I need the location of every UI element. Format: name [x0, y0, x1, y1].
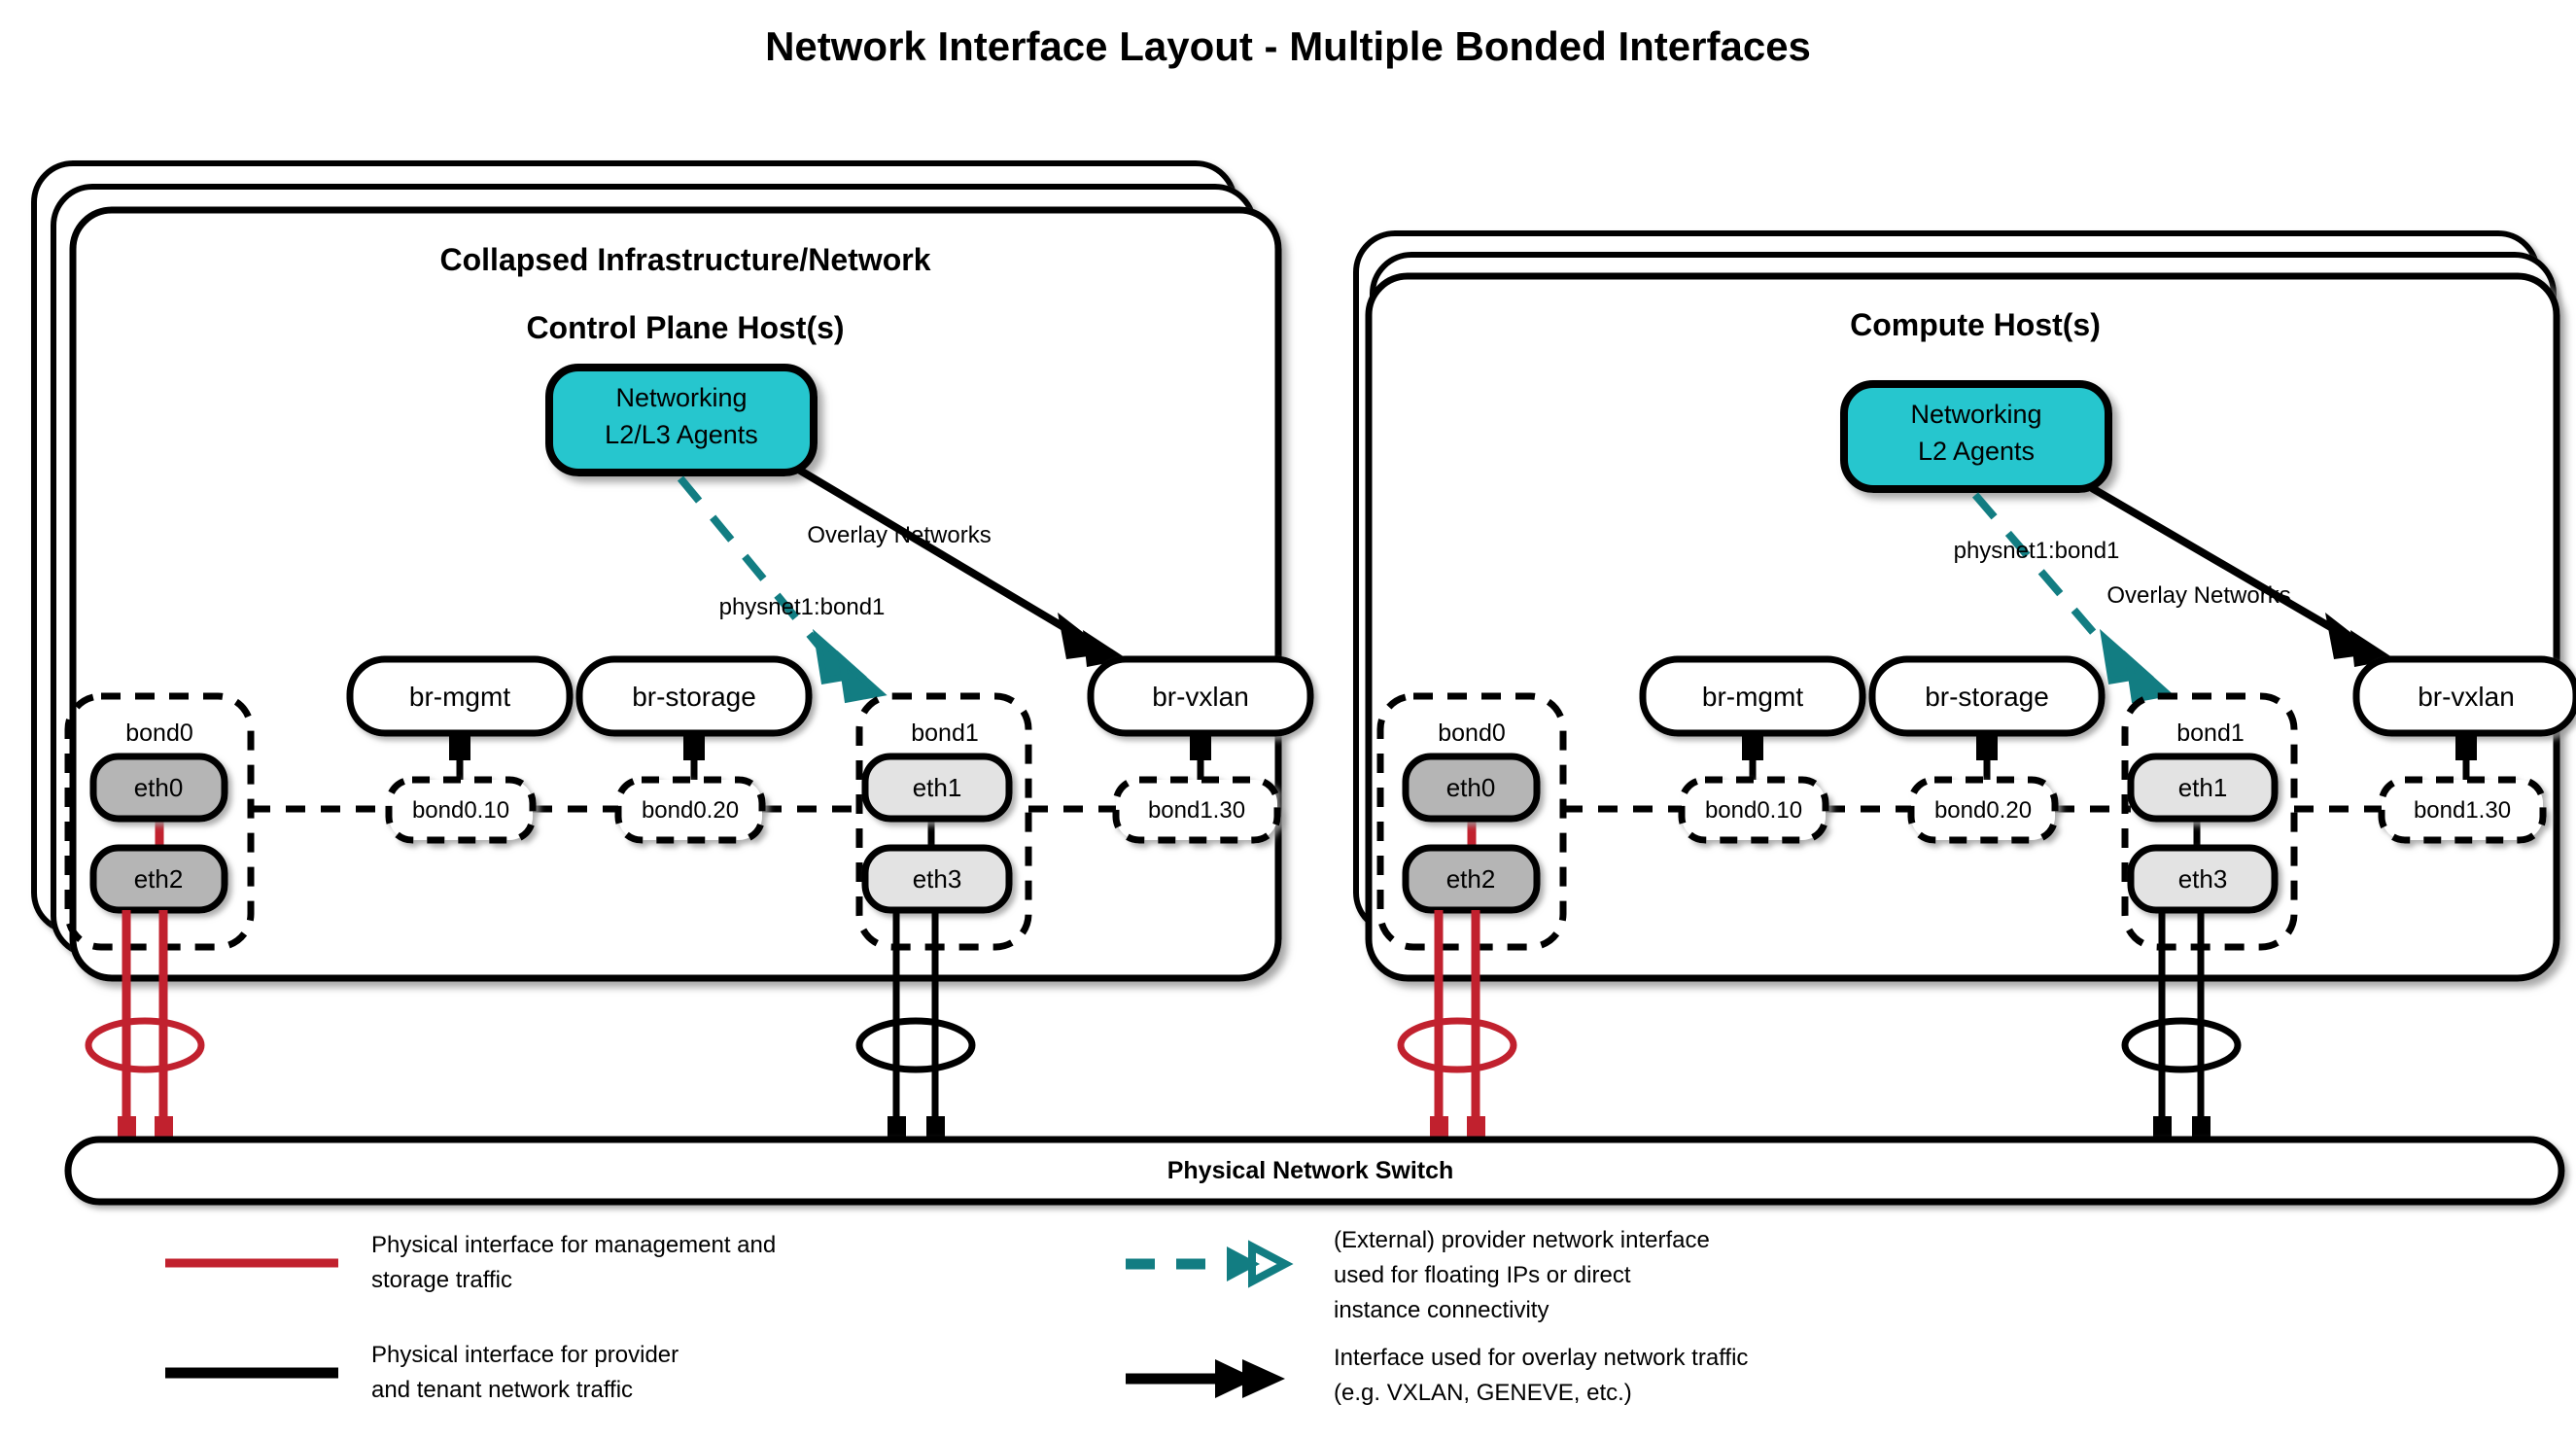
bond0-label: bond0 [125, 719, 193, 747]
eth1-label: eth1 [2178, 773, 2228, 802]
host-title-line1: Compute Host(s) [1850, 307, 2101, 342]
networking-agents-node[interactable]: Networking L2/L3 Agents [549, 368, 814, 473]
eth3-label: eth3 [913, 864, 962, 894]
legend-label-line2: used for floating IPs or direct [1334, 1262, 1631, 1288]
bond0-10-label: bond0.10 [1705, 797, 1802, 824]
br-vxlan-label: br-vxlan [1152, 682, 1249, 712]
cable-bundle-marker [859, 1021, 972, 1070]
bond0-label: bond0 [1438, 719, 1506, 747]
legend-swatch-black-arrow [1126, 1359, 1285, 1398]
vlan-node-bond0-20[interactable]: bond0.20 [618, 780, 762, 840]
legend-item-overlay-traffic: Interface used for overlay network traff… [1126, 1345, 1748, 1406]
networking-agents-node[interactable]: Networking L2 Agents [1844, 384, 2108, 489]
interface-node-eth0[interactable]: eth0 [93, 756, 225, 819]
eth0-label: eth0 [1446, 773, 1496, 802]
cable-bundle-marker [1401, 1021, 1514, 1070]
bond0-10-label: bond0.10 [412, 797, 509, 824]
legend-label-line1: (External) provider network interface [1334, 1227, 1710, 1253]
interface-node-eth2[interactable]: eth2 [93, 848, 225, 910]
bond1-30-label: bond1.30 [1148, 797, 1245, 824]
legend-label-line2: storage traffic [371, 1267, 512, 1293]
eth2-label: eth2 [134, 864, 184, 894]
vlan-node-bond0-20[interactable]: bond0.20 [1911, 780, 2055, 840]
cable-bundle-marker [2125, 1021, 2238, 1070]
br-storage-label: br-storage [632, 682, 756, 712]
interface-node-eth1[interactable]: eth1 [2131, 756, 2275, 819]
overlay-edge-label: Overlay Networks [2106, 582, 2290, 609]
legend-label-line2: (e.g. VXLAN, GENEVE, etc.) [1334, 1380, 1632, 1406]
bond1-label: bond1 [2176, 719, 2245, 747]
physical-network-switch[interactable]: Physical Network Switch [68, 1140, 2561, 1202]
vlan-node-bond0-10[interactable]: bond0.10 [1682, 780, 1826, 840]
legend-label-line3: instance connectivity [1334, 1297, 1549, 1323]
br-vxlan-label: br-vxlan [2418, 682, 2515, 712]
host-title-line1: Collapsed Infrastructure/Network [440, 242, 931, 277]
overlay-edge-label: Overlay Networks [807, 522, 991, 548]
legend-label-line1: Physical interface for management and [371, 1232, 776, 1258]
host-card-control-plane[interactable]: Collapsed Infrastructure/Network Control… [34, 163, 1310, 1147]
bond0-20-label: bond0.20 [642, 797, 739, 824]
page-title: Network Interface Layout - Multiple Bond… [765, 23, 1811, 69]
eth3-label: eth3 [2178, 864, 2228, 894]
legend-swatch-teal-dashed-arrow [1126, 1246, 1285, 1281]
legend-item-mgmt-storage: Physical interface for management and st… [165, 1232, 776, 1293]
eth2-label: eth2 [1446, 864, 1496, 894]
agent-label-line2: L2 Agents [1918, 437, 2035, 466]
agent-label-line2: L2/L3 Agents [605, 420, 758, 449]
vlan-node-bond1-30[interactable]: bond1.30 [1116, 780, 1277, 840]
physnet-edge-label: physnet1:bond1 [1954, 538, 2120, 564]
agent-label-line1: Networking [615, 383, 747, 412]
cable-bundle-marker [88, 1021, 201, 1070]
eth1-label: eth1 [913, 773, 962, 802]
interface-node-eth1[interactable]: eth1 [865, 756, 1009, 819]
interface-node-eth3[interactable]: eth3 [865, 848, 1009, 910]
legend-item-external-provider: (External) provider network interface us… [1126, 1227, 1710, 1323]
vlan-node-bond1-30[interactable]: bond1.30 [2382, 780, 2543, 840]
interface-node-eth3[interactable]: eth3 [2131, 848, 2275, 910]
host-title-line2: Control Plane Host(s) [526, 310, 844, 345]
vlan-node-bond0-10[interactable]: bond0.10 [389, 780, 533, 840]
agent-label-line1: Networking [1910, 400, 2041, 429]
legend: Physical interface for management and st… [165, 1227, 1748, 1406]
bond1-30-label: bond1.30 [2414, 797, 2511, 824]
br-mgmt-label: br-mgmt [409, 682, 510, 712]
br-storage-label: br-storage [1925, 682, 2049, 712]
eth0-label: eth0 [134, 773, 184, 802]
interface-node-eth0[interactable]: eth0 [1406, 756, 1537, 819]
physnet-edge-label: physnet1:bond1 [719, 594, 886, 620]
bond1-label: bond1 [911, 719, 979, 747]
host-card-compute[interactable]: Compute Host(s) Networking L2 Agents phy… [1356, 233, 2576, 1147]
diagram-canvas: Network Interface Layout - Multiple Bond… [0, 0, 2576, 1439]
bond0-20-label: bond0.20 [1934, 797, 2032, 824]
legend-label-line1: Physical interface for provider [371, 1342, 679, 1368]
legend-label-line1: Interface used for overlay network traff… [1334, 1345, 1748, 1371]
switch-label: Physical Network Switch [1167, 1157, 1454, 1184]
legend-item-provider-tenant: Physical interface for provider and tena… [165, 1342, 679, 1403]
legend-label-line2: and tenant network traffic [371, 1377, 633, 1403]
interface-node-eth2[interactable]: eth2 [1406, 848, 1537, 910]
br-mgmt-label: br-mgmt [1702, 682, 1803, 712]
